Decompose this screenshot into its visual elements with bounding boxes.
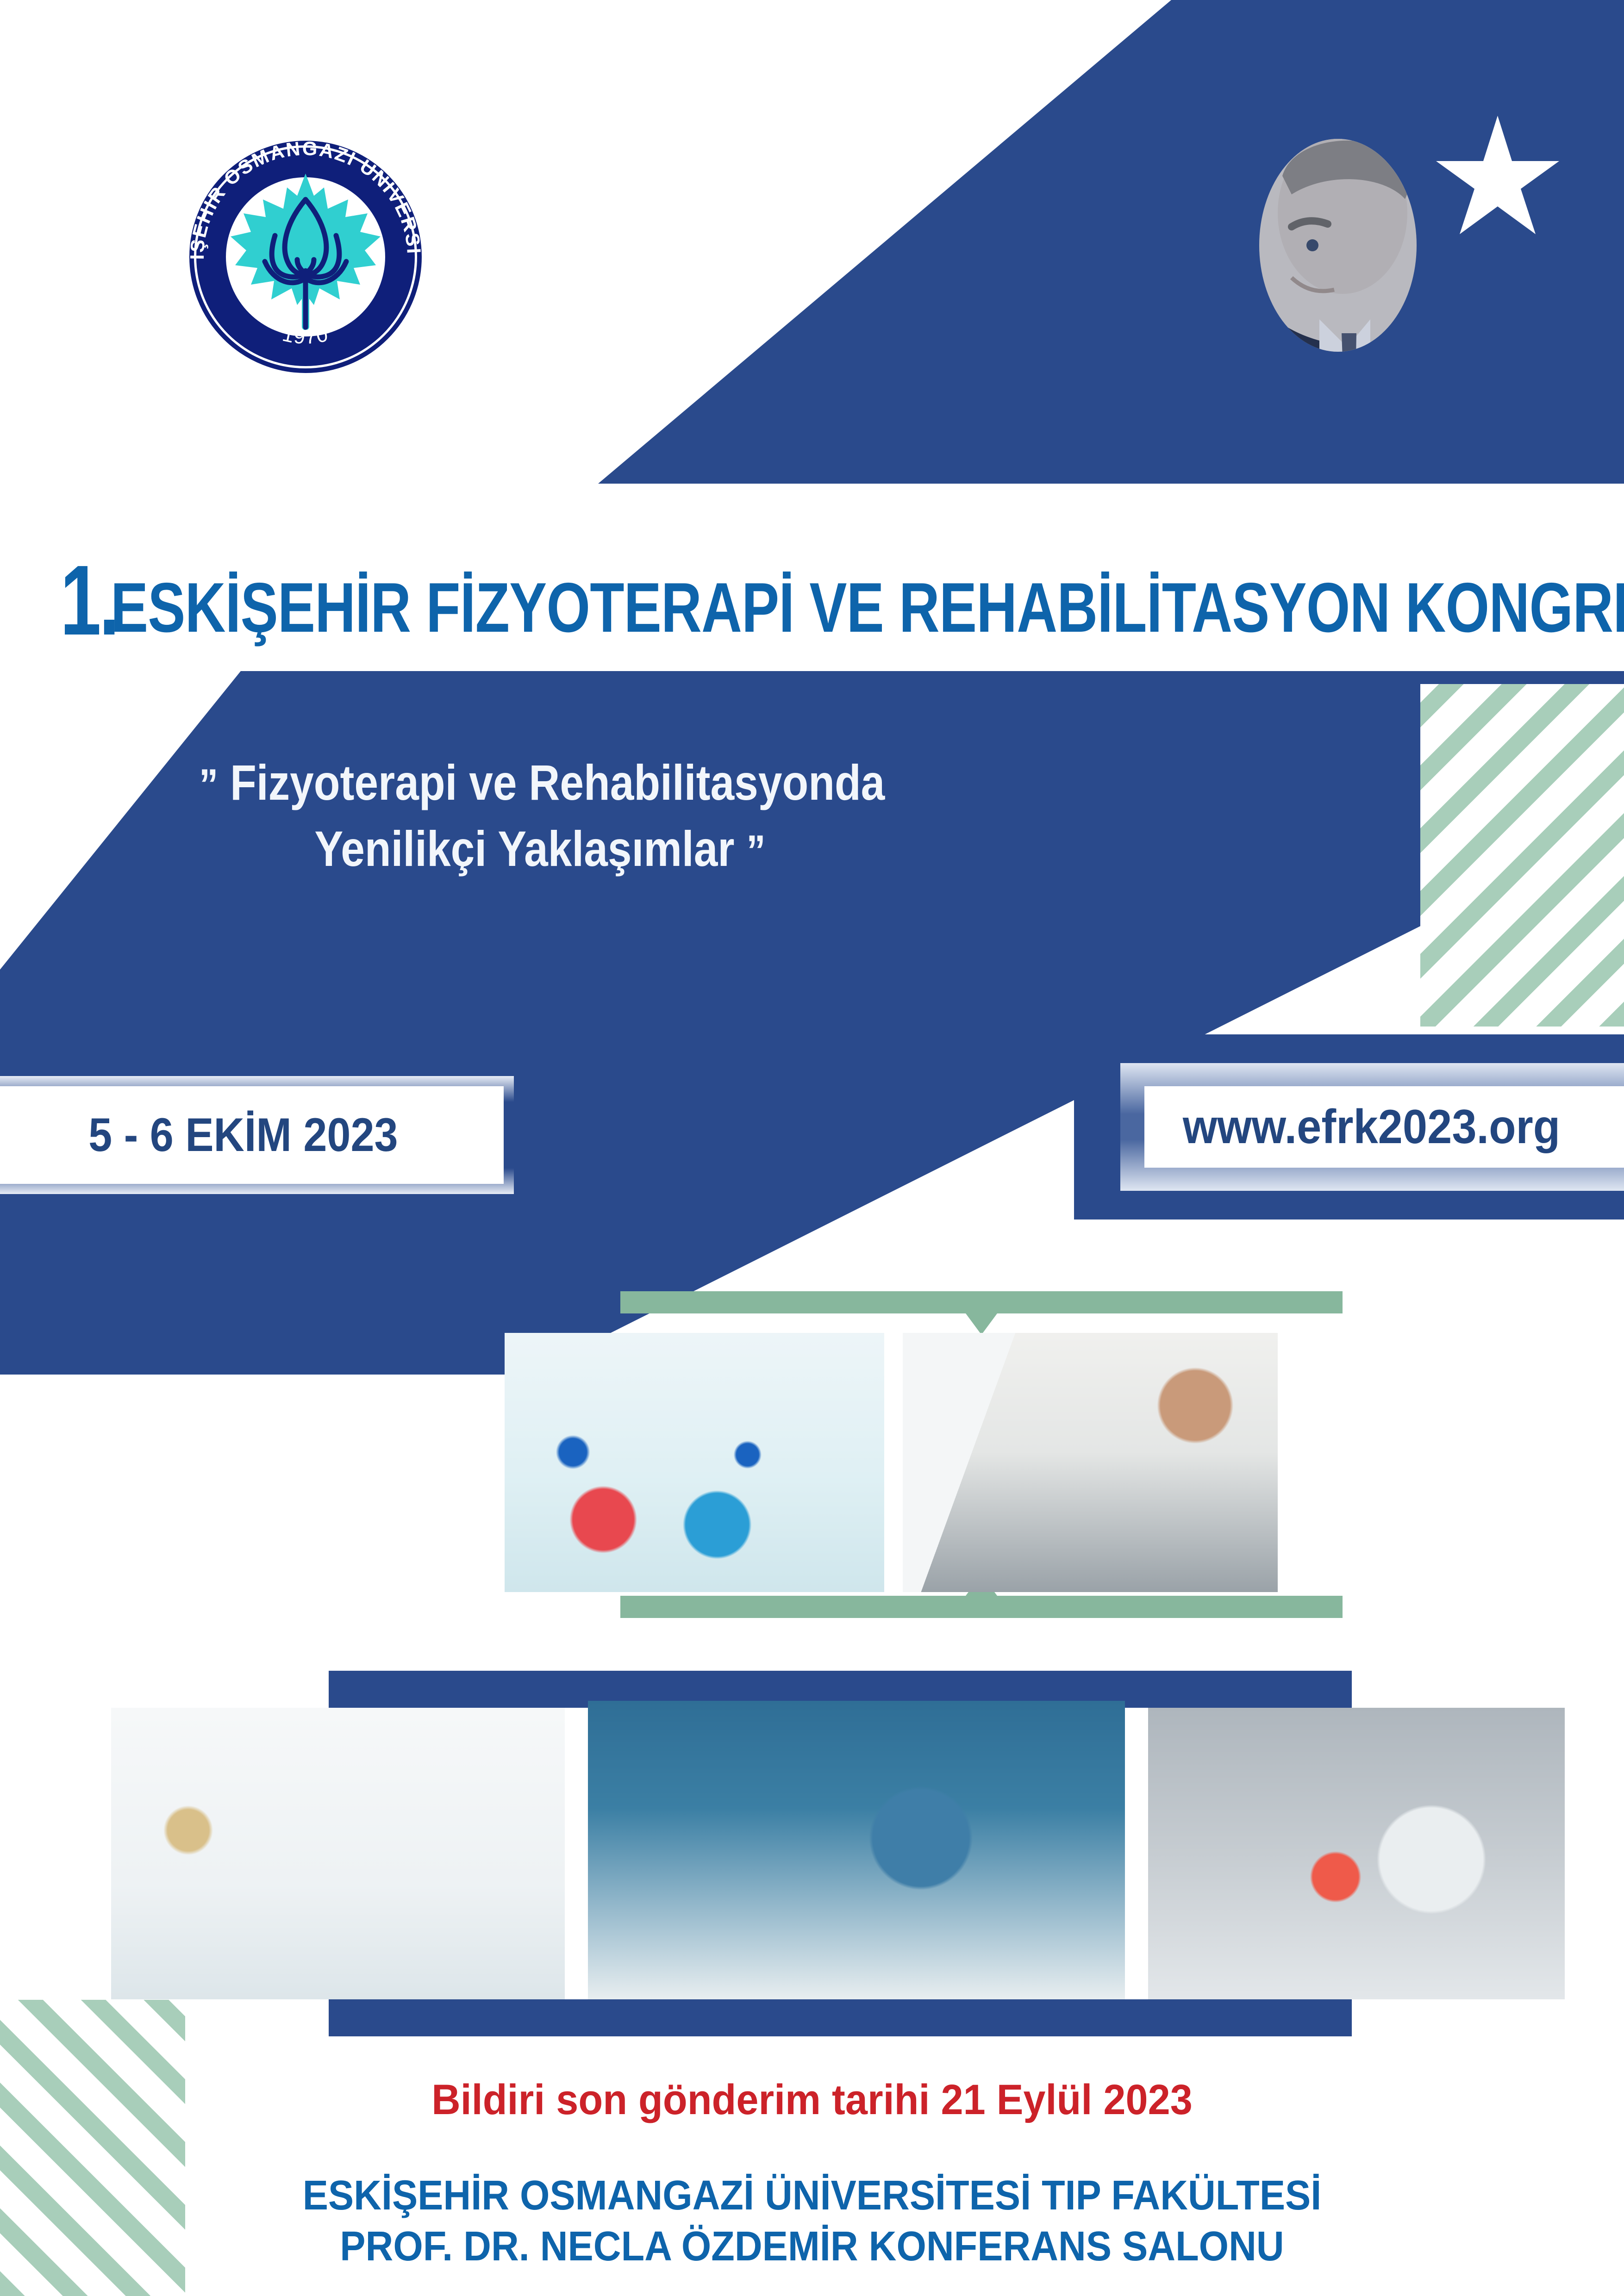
date-badge: 5 - 6 EKİM 2023 bbox=[0, 1076, 514, 1194]
cardiopulmonary-exercise-test-photo bbox=[903, 1333, 1278, 1592]
venue-line-1: ESKİŞEHİR OSMANGAZİ ÜNİVERSİTESİ TIP FAK… bbox=[65, 2171, 1559, 2221]
theme-line-2: Yenilikçi Yaklaşımlar bbox=[314, 821, 734, 877]
green-accent-bar-top bbox=[620, 1291, 1343, 1313]
vr-headset-rehabilitation-photo bbox=[588, 1701, 1125, 1999]
ems-suit-dumbbell-therapy-photo bbox=[505, 1333, 884, 1592]
motion-analysis-sensor-photo bbox=[1148, 1708, 1565, 1999]
close-quote-mark: ” bbox=[746, 826, 765, 876]
green-accent-bar-bottom bbox=[620, 1596, 1343, 1618]
centenary-caption: CUMHURİYETİMİZİN KURULUŞUNUN 100. YILI bbox=[0, 0, 518, 28]
crescent-star-ataturk-icon bbox=[1153, 60, 1569, 421]
venue-block: ESKİŞEHİR OSMANGAZİ ÜNİVERSİTESİ TIP FAK… bbox=[65, 2171, 1559, 2272]
navy-accent-bar-bottom bbox=[329, 1999, 1352, 2036]
title-ordinal: 1. bbox=[60, 560, 118, 641]
title-main-text: ESKİŞEHİR FİZYOTERAPİ VE REHABİLİTASYON … bbox=[111, 574, 1624, 641]
abstract-deadline-text: Bildiri son gönderim tarihi 21 Eylül 202… bbox=[49, 2076, 1575, 2124]
website-badge[interactable]: www.efrk2023.org bbox=[1074, 1034, 1624, 1220]
congress-theme: ” Fizyoterapi ve Rehabilitasyonda Yenili… bbox=[199, 750, 995, 882]
theme-line-1: Fizyoterapi ve Rehabilitasyonda bbox=[230, 754, 885, 810]
sage-stripes-right bbox=[1420, 684, 1624, 1027]
date-text: 5 - 6 EKİM 2023 bbox=[88, 1108, 398, 1162]
website-url[interactable]: www.efrk2023.org bbox=[1183, 1100, 1586, 1155]
university-seal-icon: ESKİŞEHİR OSMANGAZİ ÜNİVERSİTESİ 1970 bbox=[167, 118, 444, 396]
gait-trainer-robotic-rehab-photo bbox=[111, 1708, 565, 1999]
congress-poster: ESKİŞEHİR OSMANGAZİ ÜNİVERSİTESİ 1970 bbox=[0, 0, 1624, 2296]
venue-line-2: PROF. DR. NECLA ÖZDEMİR KONFERANS SALONU bbox=[65, 2221, 1559, 2272]
page-title: 1. ESKİŞEHİR FİZYOTERAPİ VE REHABİLİTASY… bbox=[0, 525, 1624, 641]
open-quote-mark: ” bbox=[199, 760, 218, 809]
